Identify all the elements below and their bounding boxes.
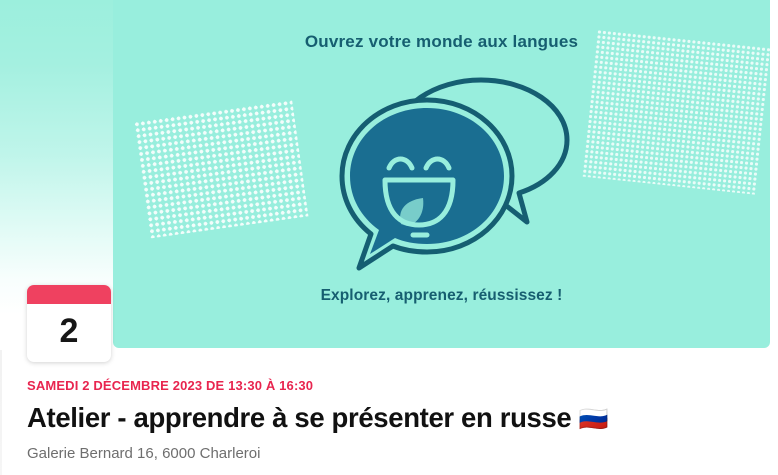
event-card: Ouvrez votre monde aux langues	[0, 0, 778, 475]
date-badge-header	[27, 285, 111, 304]
date-badge: 2	[27, 285, 111, 362]
banner-tagline: Explorez, apprenez, réussissez !	[113, 287, 770, 305]
event-title[interactable]: Atelier - apprendre à se présenter en ru…	[27, 402, 767, 434]
banner-image[interactable]: Ouvrez votre monde aux langues	[113, 0, 770, 348]
halftone-dots-right-icon	[582, 29, 770, 194]
event-banner: Ouvrez votre monde aux langues	[0, 0, 778, 350]
halftone-dots-left-icon	[134, 99, 309, 238]
date-badge-day: 2	[27, 304, 111, 362]
event-venue: Galerie Bernard 16, 6000 Charleroi	[27, 445, 767, 462]
speech-bubbles-icon	[331, 72, 581, 272]
russian-flag-icon: 🇷🇺	[579, 406, 609, 433]
event-title-text: Atelier - apprendre à se présenter en ru…	[27, 402, 579, 433]
event-date-line: SAMEDI 2 DÉCEMBRE 2023 DE 13:30 À 16:30	[27, 378, 767, 393]
banner-headline: Ouvrez votre monde aux langues	[113, 32, 770, 52]
event-info: SAMEDI 2 DÉCEMBRE 2023 DE 13:30 À 16:30 …	[27, 378, 767, 462]
